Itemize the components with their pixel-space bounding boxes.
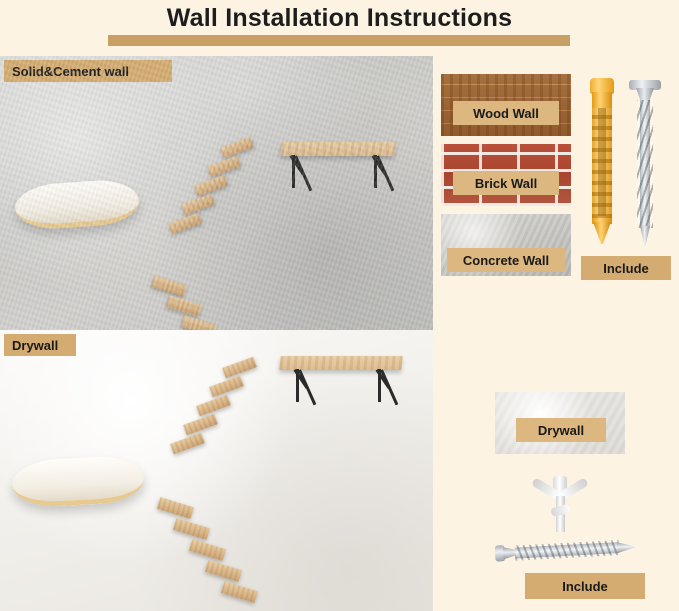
include-label-top: Include (581, 256, 671, 280)
label-concrete-wall: Concrete Wall (447, 248, 565, 272)
title-underline-bar (108, 35, 570, 46)
label-solid-cement-wall: Solid&Cement wall (4, 60, 172, 82)
shelf-bracket-left-diag (294, 155, 312, 191)
label-drywall-swatch: Drywall (516, 418, 606, 442)
label-brick-wall: Brick Wall (453, 171, 559, 195)
materials-and-hardware-top: Wood Wall Brick Wall Concrete Wall Inclu… (433, 56, 679, 330)
cat-step-ramp-upper (168, 140, 252, 228)
page-title: Wall Installation Instructions (0, 4, 679, 33)
cat-step (166, 295, 202, 316)
wall-shelf-board (280, 142, 395, 156)
photo-drywall: Drywall (0, 330, 433, 611)
include-label-bottom: Include (525, 573, 645, 599)
cat-hammock-shelf (14, 178, 141, 232)
photo-solid-cement-wall: Solid&Cement wall (0, 56, 433, 330)
cat-step (194, 175, 228, 196)
cat-step-ramp-upper (168, 360, 258, 452)
label-drywall: Drywall (4, 334, 76, 356)
cat-step (173, 518, 210, 540)
cat-step-ramp-lower (158, 500, 262, 608)
cat-hammock-shelf (11, 455, 145, 509)
wall-shelf-board (279, 356, 402, 370)
shelf-bracket-left (292, 155, 295, 188)
yellow-plastic-wall-anchor (587, 78, 617, 243)
cat-step (181, 315, 217, 330)
shelf-bracket-right-arm (372, 155, 387, 175)
instruction-infographic: Wall Installation Instructions (0, 0, 679, 611)
shelf-bracket-right-diag (376, 155, 394, 191)
cat-step (170, 433, 205, 455)
shelf-bracket-right (374, 155, 377, 188)
white-toggle-anchor (527, 476, 593, 532)
cat-step (189, 539, 226, 561)
cat-step (181, 194, 215, 215)
shelf-bracket-right-diag (380, 369, 398, 405)
cat-step (220, 137, 254, 158)
shelf-bracket-left-arm (290, 155, 305, 175)
cat-step (205, 560, 242, 582)
cat-step (157, 497, 194, 519)
silver-screw (494, 534, 635, 565)
cat-step (207, 156, 241, 177)
cat-step (151, 275, 187, 296)
cat-step (221, 581, 258, 603)
silver-screw (629, 80, 661, 250)
cat-step-ramp-lower (152, 278, 252, 330)
cat-step (168, 213, 202, 234)
shelf-bracket-left-diag (298, 369, 316, 405)
materials-and-hardware-bottom: Drywall Include (433, 330, 679, 611)
label-wood-wall: Wood Wall (453, 101, 559, 125)
title-block: Wall Installation Instructions (0, 0, 679, 50)
